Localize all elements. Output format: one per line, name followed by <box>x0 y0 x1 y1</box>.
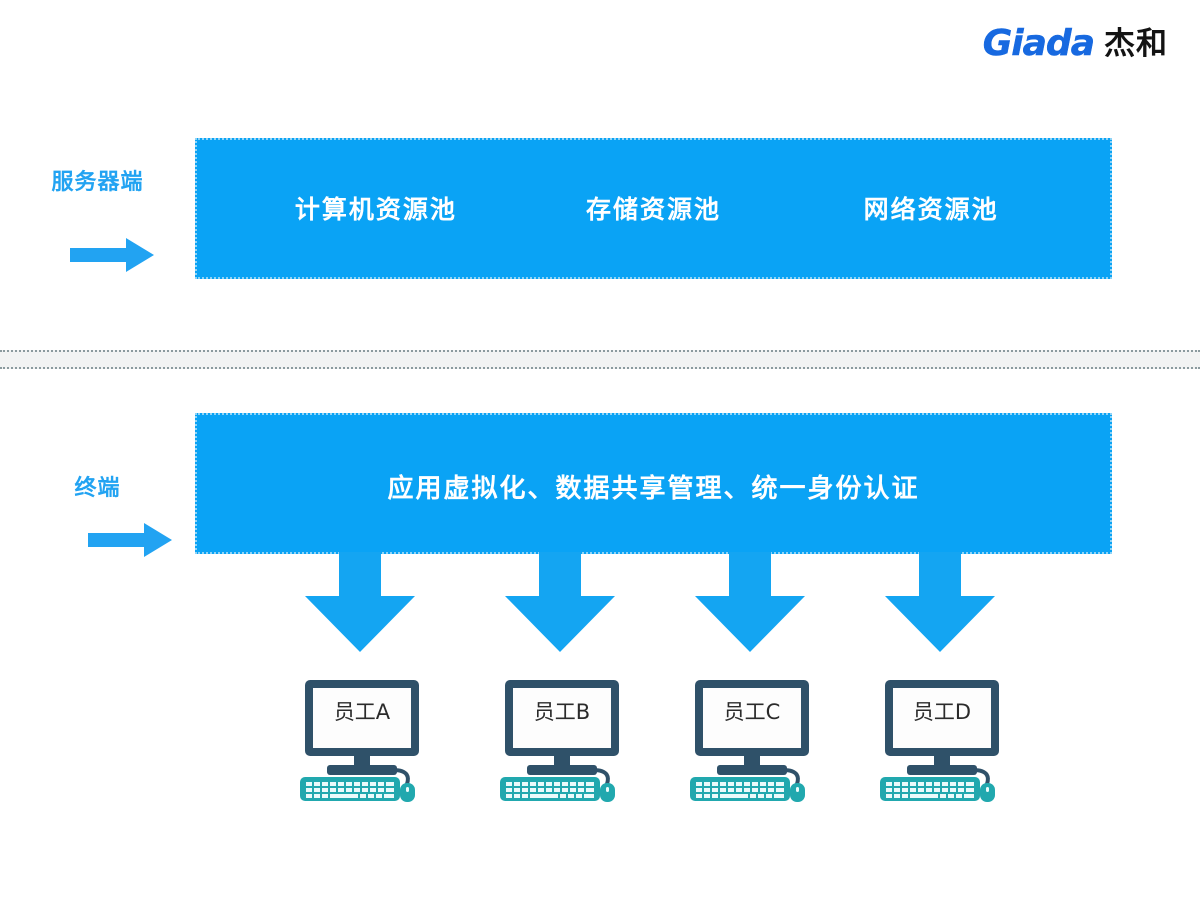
resource-pool-network: 网络资源池 <box>792 198 1070 223</box>
arrow-down-icon <box>305 552 415 652</box>
resource-pool-storage: 存储资源池 <box>515 198 793 223</box>
client-computer-b[interactable]: 员工B <box>497 678 627 803</box>
desktop-computer-icon <box>497 678 627 803</box>
terminal-services-title: 应用虚拟化、数据共享管理、统一身份认证 <box>197 475 1110 501</box>
resource-pool-compute: 计算机资源池 <box>237 198 515 223</box>
arrow-down-icon <box>885 552 995 652</box>
desktop-computer-icon <box>687 678 817 803</box>
desktop-computer-icon <box>297 678 427 803</box>
tier-divider <box>0 350 1200 369</box>
arrow-right-icon <box>88 523 172 557</box>
arrow-right-icon <box>70 238 154 272</box>
client-computer-a[interactable]: 员工A <box>297 678 427 803</box>
client-computer-c[interactable]: 员工C <box>687 678 817 803</box>
terminal-services-panel: 应用虚拟化、数据共享管理、统一身份认证 <box>195 413 1112 554</box>
brand-logo: Giada 杰和 <box>983 24 1168 64</box>
arrow-down-icon <box>505 552 615 652</box>
server-tier-label: 服务器端 <box>0 164 195 196</box>
resource-pool-row: 计算机资源池 存储资源池 网络资源池 <box>197 198 1110 223</box>
logo-giada-text: Giada <box>983 26 1094 62</box>
terminal-tier-label: 终端 <box>0 470 195 502</box>
arrow-down-icon <box>695 552 805 652</box>
desktop-computer-icon <box>877 678 1007 803</box>
logo-chinese-text: 杰和 <box>1104 29 1168 60</box>
client-computer-d[interactable]: 员工D <box>877 678 1007 803</box>
server-resource-panel: 计算机资源池 存储资源池 网络资源池 <box>195 138 1112 279</box>
